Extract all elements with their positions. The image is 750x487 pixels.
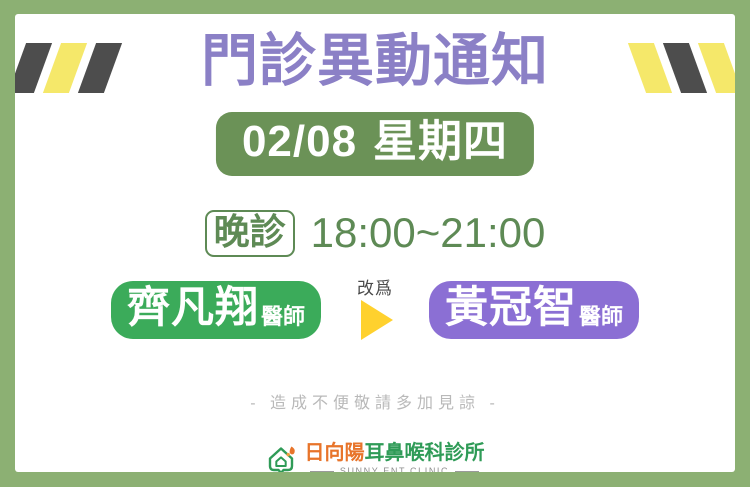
clinic-subtitle: SUNNY ENT CLINIC — [340, 466, 449, 472]
time-row: 晚診 18:00~21:00 — [15, 210, 735, 257]
clinic-logo: 日向陽耳鼻喉科診所 SUNNY ENT CLINIC — [15, 442, 735, 472]
rule-right — [455, 471, 479, 472]
decorative-stripes-right — [637, 43, 733, 93]
appointment-change-poster: 門診異動通知 02/08星期四 晚診 18:00~21:00 齊凡翔 醫師 改爲 — [0, 0, 750, 487]
session-tag: 晚診 — [205, 210, 295, 257]
change-label: 改爲 — [357, 280, 393, 297]
doctor-change-row: 齊凡翔 醫師 改爲 黃冠智 醫師 — [15, 280, 735, 340]
replacement-doctor-name: 黃冠智 — [445, 287, 577, 330]
original-doctor-title: 醫師 — [261, 306, 305, 328]
poster-card: 門診異動通知 02/08星期四 晚診 18:00~21:00 齊凡翔 醫師 改爲 — [15, 14, 735, 472]
replacement-doctor-pill: 黃冠智 醫師 — [429, 281, 639, 339]
clinic-name: 日向陽耳鼻喉科診所 — [305, 442, 485, 464]
triangle-right-icon — [361, 300, 393, 340]
time-range: 18:00~21:00 — [311, 211, 546, 255]
original-doctor-name: 齊凡翔 — [127, 287, 259, 330]
original-doctor-pill: 齊凡翔 醫師 — [111, 281, 321, 339]
date-weekday: 星期四 — [373, 117, 508, 166]
house-leaf-icon — [266, 444, 300, 472]
clinic-name-sun: 日向陽 — [305, 442, 365, 464]
replacement-doctor-title: 醫師 — [579, 306, 623, 328]
rule-left — [310, 471, 334, 472]
clinic-name-rest: 耳鼻喉科診所 — [365, 442, 485, 464]
date-banner: 02/08星期四 — [216, 112, 534, 176]
clinic-logo-text: 日向陽耳鼻喉科診所 SUNNY ENT CLINIC — [305, 442, 485, 472]
title-row: 門診異動通知 — [15, 20, 735, 102]
date-value: 02/08 — [242, 117, 357, 166]
change-indicator: 改爲 — [323, 280, 427, 340]
clinic-subtitle-row: SUNNY ENT CLINIC — [310, 466, 479, 472]
page-title: 門診異動通知 — [15, 20, 735, 102]
apology-note: - 造成不便敬請多加見諒 - — [15, 389, 735, 413]
